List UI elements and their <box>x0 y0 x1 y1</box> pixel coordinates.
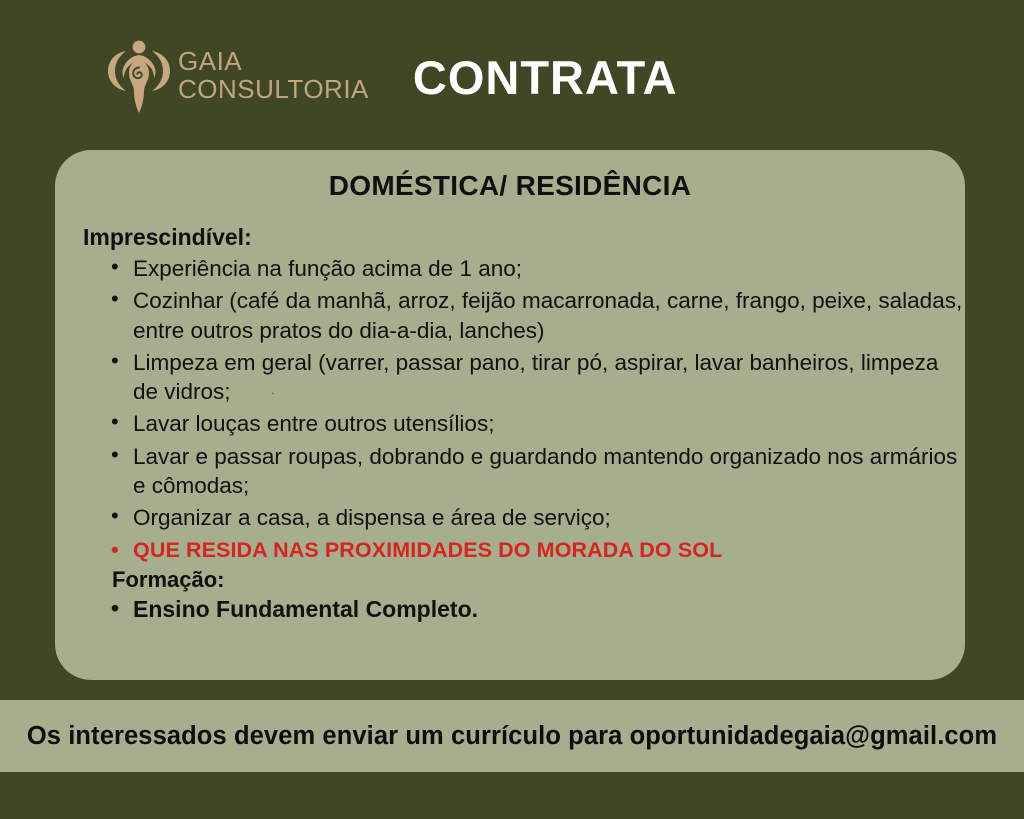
list-item: Lavar louças entre outros utensílios; <box>107 409 965 438</box>
list-item: Limpeza em geral (varrer, passar pano, t… <box>107 348 965 407</box>
list-item: Lavar e passar roupas, dobrando e guarda… <box>107 442 965 501</box>
brand-lockup: GAIA CONSULTORIA <box>108 37 369 113</box>
header: GAIA CONSULTORIA CONTRATA <box>0 0 1024 150</box>
brand-line-1: GAIA <box>178 48 369 74</box>
list-item-text: Limpeza em geral (varrer, passar pano, t… <box>133 350 938 404</box>
list-item: Experiência na função acima de 1 ano; <box>107 254 965 283</box>
education-heading: Formação: <box>112 567 965 593</box>
contact-instruction: Os interessados devem enviar um currícul… <box>27 722 997 751</box>
footer-bar: Os interessados devem enviar um currícul… <box>0 700 1024 772</box>
brand-line-2: CONSULTORIA <box>178 76 369 102</box>
page-title: CONTRATA <box>413 50 678 105</box>
goddess-crescent-logo-icon <box>108 37 170 113</box>
requirements-list: Experiência na função acima de 1 ano; Co… <box>55 254 965 565</box>
job-title: DOMÉSTICA/ RESIDÊNCIA <box>55 170 965 202</box>
stray-mark: · <box>271 385 275 402</box>
requirements-heading: Imprescindível: <box>83 224 965 251</box>
list-item: Cozinhar (café da manhã, arroz, feijão m… <box>107 286 965 345</box>
brand-wordmark: GAIA CONSULTORIA <box>178 48 369 102</box>
list-item: Ensino Fundamental Completo. <box>107 595 965 625</box>
list-item: Organizar a casa, a dispensa e área de s… <box>107 503 965 532</box>
list-item-highlight: QUE RESIDA NAS PROXIMIDADES DO MORADA DO… <box>107 537 965 565</box>
education-list: Ensino Fundamental Completo. <box>55 595 965 625</box>
job-posting-panel: DOMÉSTICA/ RESIDÊNCIA Imprescindível: Ex… <box>55 150 965 680</box>
